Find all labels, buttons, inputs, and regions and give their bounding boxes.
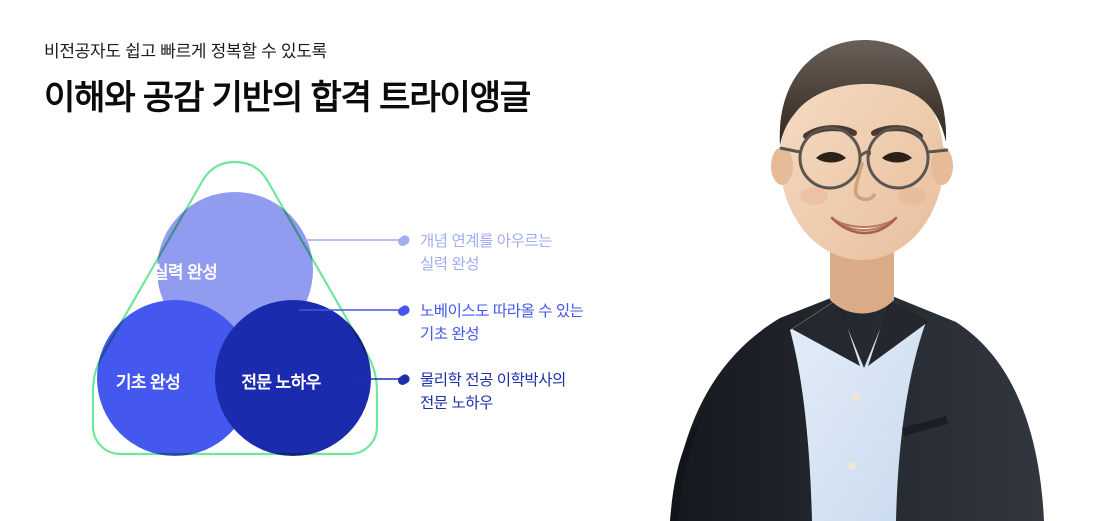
eyebrow-text: 비전공자도 쉽고 빠르게 정복할 수 있도록: [44, 40, 664, 64]
venn-circles: [97, 192, 371, 456]
bullet-dot-icon: [398, 307, 407, 316]
annotation-line-2: 기초 완성: [420, 323, 583, 346]
bullet-dot-icon: [398, 376, 407, 385]
circle-right: [215, 300, 371, 456]
shirt-button: [848, 462, 856, 470]
annotation-item-top: 개념 연계를 아우르는 실력 완성: [398, 230, 552, 276]
venn-diagram: 실력 완성 기초 완성 전문 노하우: [55, 140, 415, 500]
annotation-line-1: 노베이스도 따라올 수 있는: [420, 303, 583, 320]
cheek-right: [898, 187, 926, 205]
ear-left: [771, 147, 793, 185]
shirt-button: [852, 394, 860, 402]
annotation-text-top: 개념 연계를 아우르는 실력 완성: [420, 230, 552, 276]
annotation-text-left: 노베이스도 따라올 수 있는 기초 완성: [420, 300, 583, 346]
annotation-line-2: 전문 노하우: [420, 392, 566, 415]
promo-banner: 비전공자도 쉽고 빠르게 정복할 수 있도록 이해와 공감 기반의 합격 트라이…: [0, 0, 1100, 521]
instructor-portrait: [640, 0, 1100, 521]
annotation-line-2: 실력 완성: [420, 253, 552, 276]
cheek-left: [800, 187, 828, 205]
annotation-line-1: 개념 연계를 아우르는: [420, 233, 552, 250]
venn-svg: [55, 140, 415, 500]
portrait-illustration: [640, 0, 1100, 521]
annotation-item-left: 노베이스도 따라올 수 있는 기초 완성: [398, 300, 583, 346]
annotation-line-1: 물리학 전공 이학박사의: [420, 372, 566, 389]
bullet-dot-icon: [398, 237, 407, 246]
annotation-text-right: 물리학 전공 이학박사의 전문 노하우: [420, 369, 566, 415]
heading-block: 비전공자도 쉽고 빠르게 정복할 수 있도록 이해와 공감 기반의 합격 트라이…: [44, 40, 664, 120]
annotation-item-right: 물리학 전공 이학박사의 전문 노하우: [398, 369, 566, 415]
page-title: 이해와 공감 기반의 합격 트라이앵글: [44, 76, 664, 120]
